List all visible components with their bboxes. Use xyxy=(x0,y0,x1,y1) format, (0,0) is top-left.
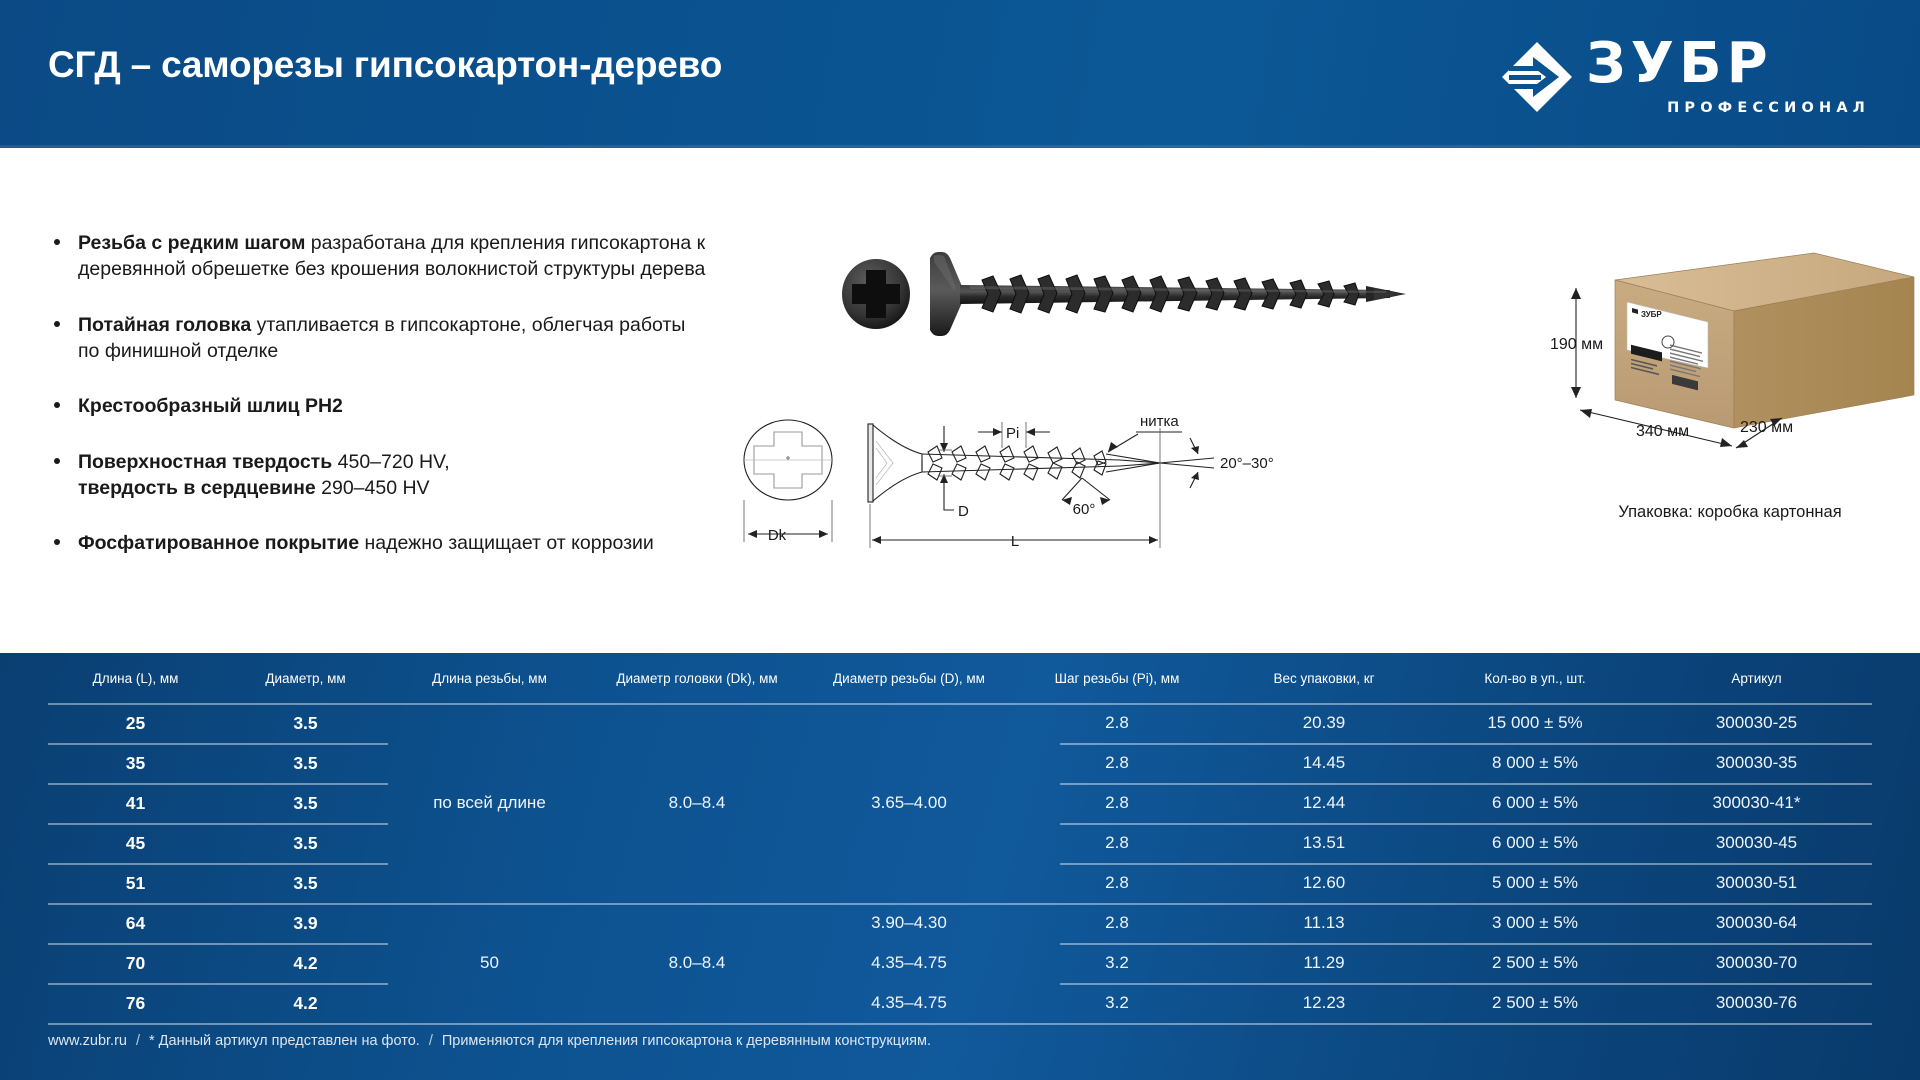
feature-text: 450–720 HV, xyxy=(332,451,449,473)
cell-article: 300030-35 xyxy=(1641,743,1872,783)
label-pi: Pi xyxy=(1006,425,1019,442)
table-separator xyxy=(48,1023,1872,1025)
column-header-thread-length: Длина резьбы, мм xyxy=(388,653,591,703)
label-dk: Dk xyxy=(768,527,787,544)
column-header-quantity: Кол-во в уп., шт. xyxy=(1429,653,1641,703)
label-thread: нитка xyxy=(1140,413,1179,430)
cell-thread-diameter: 4.35–4.75 xyxy=(803,983,1015,1023)
product-datasheet-page: СГД – саморезы гипсокартон-дерево ЗУБР П… xyxy=(0,0,1920,1080)
dimension-dk xyxy=(744,500,832,542)
cell-weight: 11.29 xyxy=(1219,943,1429,983)
leader-thread xyxy=(1108,432,1182,452)
cell-pitch: 2.8 xyxy=(1015,743,1219,783)
cell-weight: 11.13 xyxy=(1219,903,1429,943)
bullet-icon xyxy=(54,458,60,464)
cell-head-diameter-group1: 8.0–8.4 xyxy=(591,703,803,903)
cell-diameter: 3.5 xyxy=(223,823,388,863)
cell-diameter: 3.5 xyxy=(223,783,388,823)
bullet-icon xyxy=(54,239,60,245)
table-separator xyxy=(48,943,388,945)
cell-diameter: 3.5 xyxy=(223,863,388,903)
column-header-pitch: Шаг резьбы (Pi), мм xyxy=(1015,653,1219,703)
feature-item: Фосфатированное покрытие надежно защищае… xyxy=(48,530,708,556)
specifications-panel: Длина (L), мм Диаметр, мм Длина резьбы, … xyxy=(0,653,1920,1080)
table-separator xyxy=(1060,823,1872,825)
page-header: СГД – саморезы гипсокартон-дерево ЗУБР П… xyxy=(0,0,1920,148)
table-separator xyxy=(48,783,388,785)
footer-note: www.zubr.ru/* Данный артикул представлен… xyxy=(48,1033,931,1049)
cell-pitch: 2.8 xyxy=(1015,783,1219,823)
cell-quantity: 6 000 ± 5% xyxy=(1429,783,1641,823)
feature-bold-2: твердость в сердцевине xyxy=(78,477,316,499)
cell-article: 300030-51 xyxy=(1641,863,1872,903)
footer-divider: / xyxy=(127,1033,149,1049)
table-separator xyxy=(1060,783,1872,785)
zubr-arrow-diamond-icon xyxy=(1500,40,1574,114)
feature-bold: Поверхностная твердость xyxy=(78,451,332,473)
table-separator xyxy=(1060,863,1872,865)
table-row: 70 4.2 4.35–4.75 3.2 11.29 2 500 ± 5% 30… xyxy=(48,943,1872,983)
column-header-article: Артикул xyxy=(1641,653,1872,703)
cell-pitch: 2.8 xyxy=(1015,823,1219,863)
cell-length: 64 xyxy=(48,903,223,943)
feature-bold: Потайная головка xyxy=(78,314,251,336)
cell-thread-diameter-group1: 3.65–4.00 xyxy=(803,703,1015,903)
feature-item: Поверхностная твердость 450–720 HV, твер… xyxy=(48,449,708,502)
cell-quantity: 2 500 ± 5% xyxy=(1429,983,1641,1023)
cell-length: 76 xyxy=(48,983,223,1023)
feature-text: надежно защищает от коррозии xyxy=(359,532,654,554)
table-row: 76 4.2 4.35–4.75 3.2 12.23 2 500 ± 5% 30… xyxy=(48,983,1872,1023)
feature-item: Резьба с редким шагом разработана для кр… xyxy=(48,230,708,283)
cell-pitch: 3.2 xyxy=(1015,983,1219,1023)
bullet-icon xyxy=(54,402,60,408)
cell-quantity: 2 500 ± 5% xyxy=(1429,943,1641,983)
column-header-weight: Вес упаковки, кг xyxy=(1219,653,1429,703)
dimension-tip-angle xyxy=(1160,428,1214,488)
cell-weight: 12.23 xyxy=(1219,983,1429,1023)
table-separator xyxy=(48,983,388,985)
cell-length: 45 xyxy=(48,823,223,863)
column-header-diameter: Диаметр, мм xyxy=(223,653,388,703)
table-row: 64 3.9 50 8.0–8.4 3.90–4.30 2.8 11.13 3 … xyxy=(48,903,1872,943)
cell-weight: 20.39 xyxy=(1219,703,1429,743)
cell-length: 41 xyxy=(48,783,223,823)
cell-thread-length-group2: 50 xyxy=(388,903,591,1023)
cell-diameter: 3.9 xyxy=(223,903,388,943)
footer-photo-note: * Данный артикул представлен на фото. xyxy=(149,1033,420,1049)
cell-pitch: 3.2 xyxy=(1015,943,1219,983)
feature-text-2: 290–450 HV xyxy=(316,477,430,499)
cell-pitch: 2.8 xyxy=(1015,863,1219,903)
screw-head-top-view xyxy=(842,259,910,329)
column-header-length: Длина (L), мм xyxy=(48,653,223,703)
column-header-thread-diameter: Диаметр резьбы (D), мм xyxy=(803,653,1015,703)
zubr-logo: ЗУБР ПРОФЕССИОНАЛ xyxy=(1500,32,1872,118)
technical-drawing: Dk D Pi L 60° нитка 20°–30° xyxy=(690,408,1450,568)
cell-quantity: 8 000 ± 5% xyxy=(1429,743,1641,783)
table-separator xyxy=(48,863,388,865)
cell-head-diameter-group2: 8.0–8.4 xyxy=(591,903,803,1023)
screw-side-view xyxy=(930,252,1406,336)
cell-diameter: 3.5 xyxy=(223,743,388,783)
box-caption: Упаковка: коробка картонная xyxy=(1540,503,1920,522)
cell-pitch: 2.8 xyxy=(1015,903,1219,943)
cell-weight: 12.60 xyxy=(1219,863,1429,903)
cell-article: 300030-25 xyxy=(1641,703,1872,743)
bullet-icon xyxy=(54,539,60,545)
footer-usage-note: Применяются для крепления гипсокартона к… xyxy=(442,1033,931,1049)
cell-weight: 14.45 xyxy=(1219,743,1429,783)
cell-quantity: 3 000 ± 5% xyxy=(1429,903,1641,943)
drawing-head-top-view xyxy=(744,420,832,500)
table-separator xyxy=(1060,983,1872,985)
cell-article: 300030-45 xyxy=(1641,823,1872,863)
cell-length: 35 xyxy=(48,743,223,783)
table-separator xyxy=(1060,943,1872,945)
box-label-brand: ЗУБР xyxy=(1641,310,1662,319)
cell-quantity: 5 000 ± 5% xyxy=(1429,863,1641,903)
feature-bold: Крестообразный шлиц PH2 xyxy=(78,395,343,417)
dimension-d xyxy=(938,426,954,510)
cell-article: 300030-41* xyxy=(1641,783,1872,823)
table-separator xyxy=(48,703,1872,705)
cell-length: 51 xyxy=(48,863,223,903)
box-depth-label: 230 мм xyxy=(1740,419,1793,436)
feature-list: Резьба с редким шагом разработана для кр… xyxy=(48,230,708,557)
cell-thread-diameter: 4.35–4.75 xyxy=(803,943,1015,983)
cell-pitch: 2.8 xyxy=(1015,703,1219,743)
cell-thread-length-group1: по всей длине xyxy=(388,703,591,903)
cell-article: 300030-70 xyxy=(1641,943,1872,983)
cell-weight: 12.44 xyxy=(1219,783,1429,823)
table-row: 25 3.5 по всей длине 8.0–8.4 3.65–4.00 2… xyxy=(48,703,1872,743)
feature-bold: Фосфатированное покрытие xyxy=(78,532,359,554)
table-separator xyxy=(48,743,388,745)
table-header-row: Длина (L), мм Диаметр, мм Длина резьбы, … xyxy=(48,653,1872,703)
box-width-label: 340 мм xyxy=(1636,423,1689,440)
screw-photograph xyxy=(830,228,1430,360)
cell-diameter: 4.2 xyxy=(223,943,388,983)
label-d: D xyxy=(958,503,969,520)
cell-quantity: 15 000 ± 5% xyxy=(1429,703,1641,743)
specifications-table: Длина (L), мм Диаметр, мм Длина резьбы, … xyxy=(48,653,1872,1023)
feature-item: Потайная головка утапливается в гипсокар… xyxy=(48,312,708,365)
feature-bold: Резьба с редким шагом xyxy=(78,232,305,254)
cell-weight: 13.51 xyxy=(1219,823,1429,863)
logo-wordmark: ЗУБР xyxy=(1586,36,1773,92)
bullet-icon xyxy=(54,321,60,327)
package-box-figure: ЗУБР 190 xyxy=(1540,250,1920,480)
table-separator xyxy=(1060,743,1872,745)
cell-diameter: 4.2 xyxy=(223,983,388,1023)
cell-quantity: 6 000 ± 5% xyxy=(1429,823,1641,863)
table-separator xyxy=(48,903,1872,905)
box-height-label: 190 мм xyxy=(1550,336,1603,353)
footer-divider: / xyxy=(420,1033,442,1049)
footer-website[interactable]: www.zubr.ru xyxy=(48,1033,127,1049)
cell-length: 70 xyxy=(48,943,223,983)
cell-length: 25 xyxy=(48,703,223,743)
logo-tagline: ПРОФЕССИОНАЛ xyxy=(1667,100,1870,116)
cell-article: 300030-64 xyxy=(1641,903,1872,943)
label-tip-angle: 20°–30° xyxy=(1220,455,1274,472)
label-l: L xyxy=(1011,533,1019,550)
page-title: СГД – саморезы гипсокартон-дерево xyxy=(48,44,722,86)
cell-thread-diameter: 3.90–4.30 xyxy=(803,903,1015,943)
cell-diameter: 3.5 xyxy=(223,703,388,743)
column-header-head-diameter: Диаметр головки (Dk), мм xyxy=(591,653,803,703)
feature-item: Крестообразный шлиц PH2 xyxy=(48,393,708,419)
table-separator xyxy=(48,823,388,825)
cell-article: 300030-76 xyxy=(1641,983,1872,1023)
label-thread-angle: 60° xyxy=(1073,501,1096,518)
